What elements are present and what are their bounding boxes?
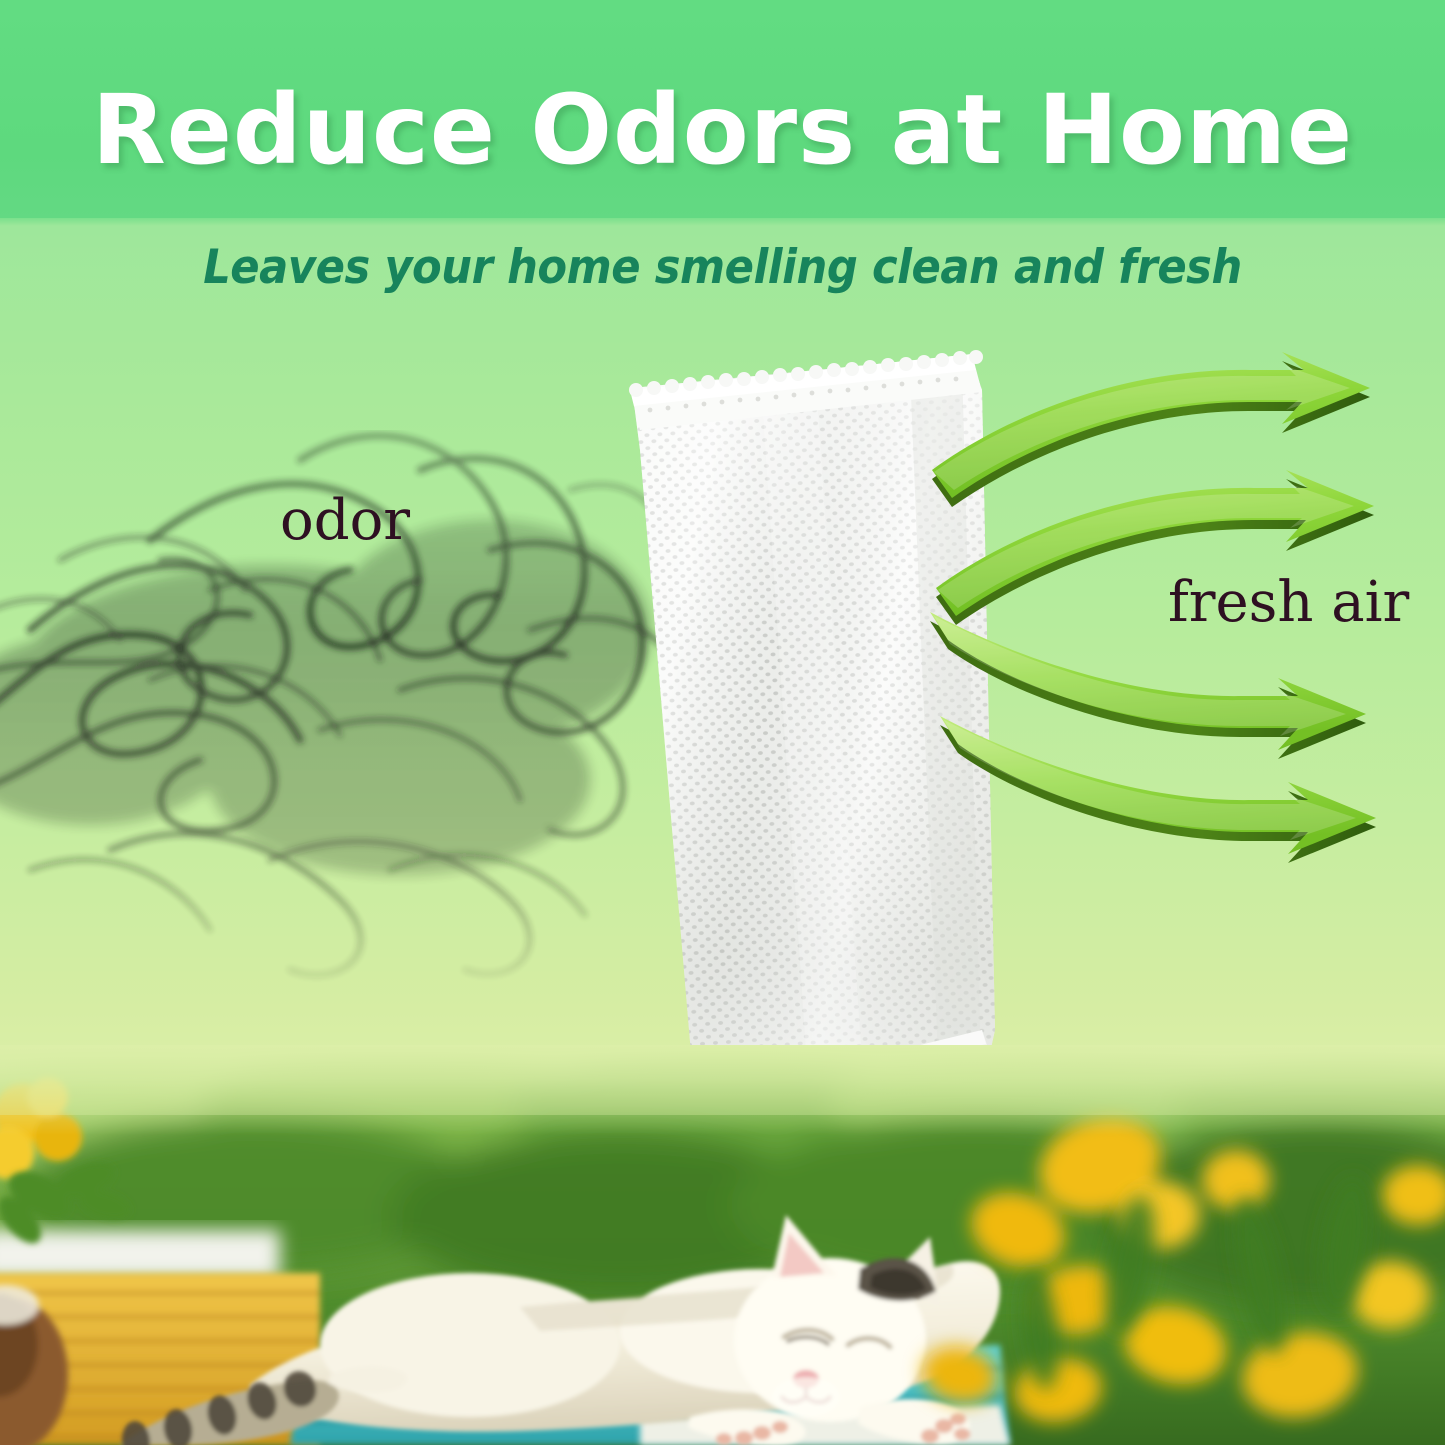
fresh-air-label: fresh air (1168, 570, 1409, 635)
product-poster: Reduce Odors at Home Leaves your home sm… (0, 0, 1445, 1445)
lifestyle-photo-sleeping-cat (0, 1045, 1445, 1445)
subtitle: Leaves your home smelling clean and fres… (58, 240, 1387, 295)
page-title: Reduce Odors at Home (0, 74, 1445, 186)
odor-label: odor (280, 488, 410, 553)
